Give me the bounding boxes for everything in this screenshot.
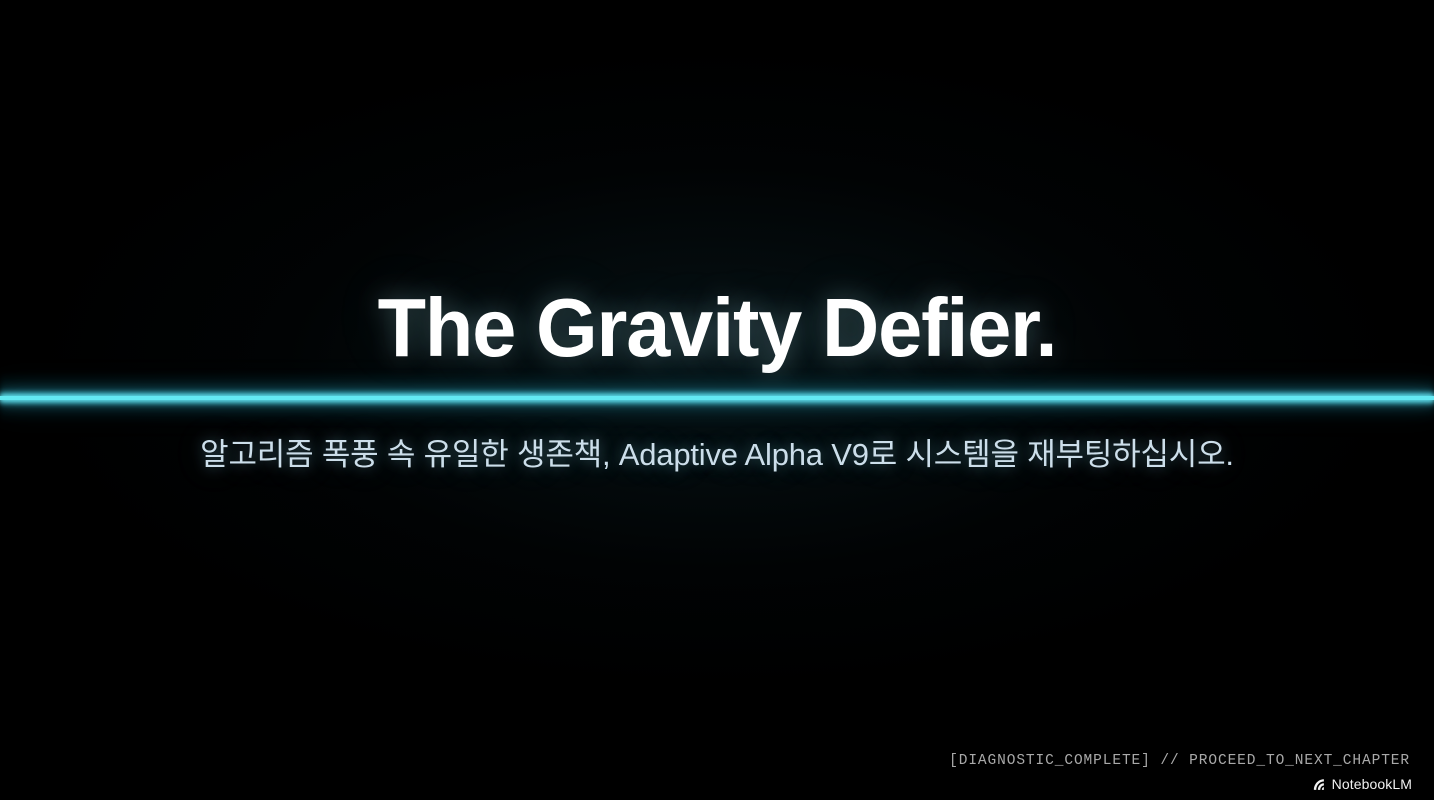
hero-section: The Gravity Defier. 알고리즘 폭풍 속 유일한 생존책, A… bbox=[0, 0, 1434, 800]
notebooklm-spiral-icon bbox=[1312, 777, 1327, 792]
presentation-slide: The Gravity Defier. 알고리즘 폭풍 속 유일한 생존책, A… bbox=[0, 0, 1434, 800]
divider-inner-glow bbox=[0, 390, 1434, 406]
diagnostic-status-text: [DIAGNOSTIC_COMPLETE] // PROCEED_TO_NEXT… bbox=[949, 753, 1410, 769]
divider-halo bbox=[0, 372, 1434, 424]
slide-title: The Gravity Defier. bbox=[32, 286, 1401, 371]
notebooklm-label: NotebookLM bbox=[1332, 776, 1412, 792]
divider-core-line bbox=[0, 396, 1434, 400]
slide-subtitle: 알고리즘 폭풍 속 유일한 생존책, Adaptive Alpha V9로 시스… bbox=[0, 434, 1434, 476]
notebooklm-watermark: NotebookLM bbox=[1312, 776, 1412, 792]
glowing-divider bbox=[0, 372, 1434, 424]
